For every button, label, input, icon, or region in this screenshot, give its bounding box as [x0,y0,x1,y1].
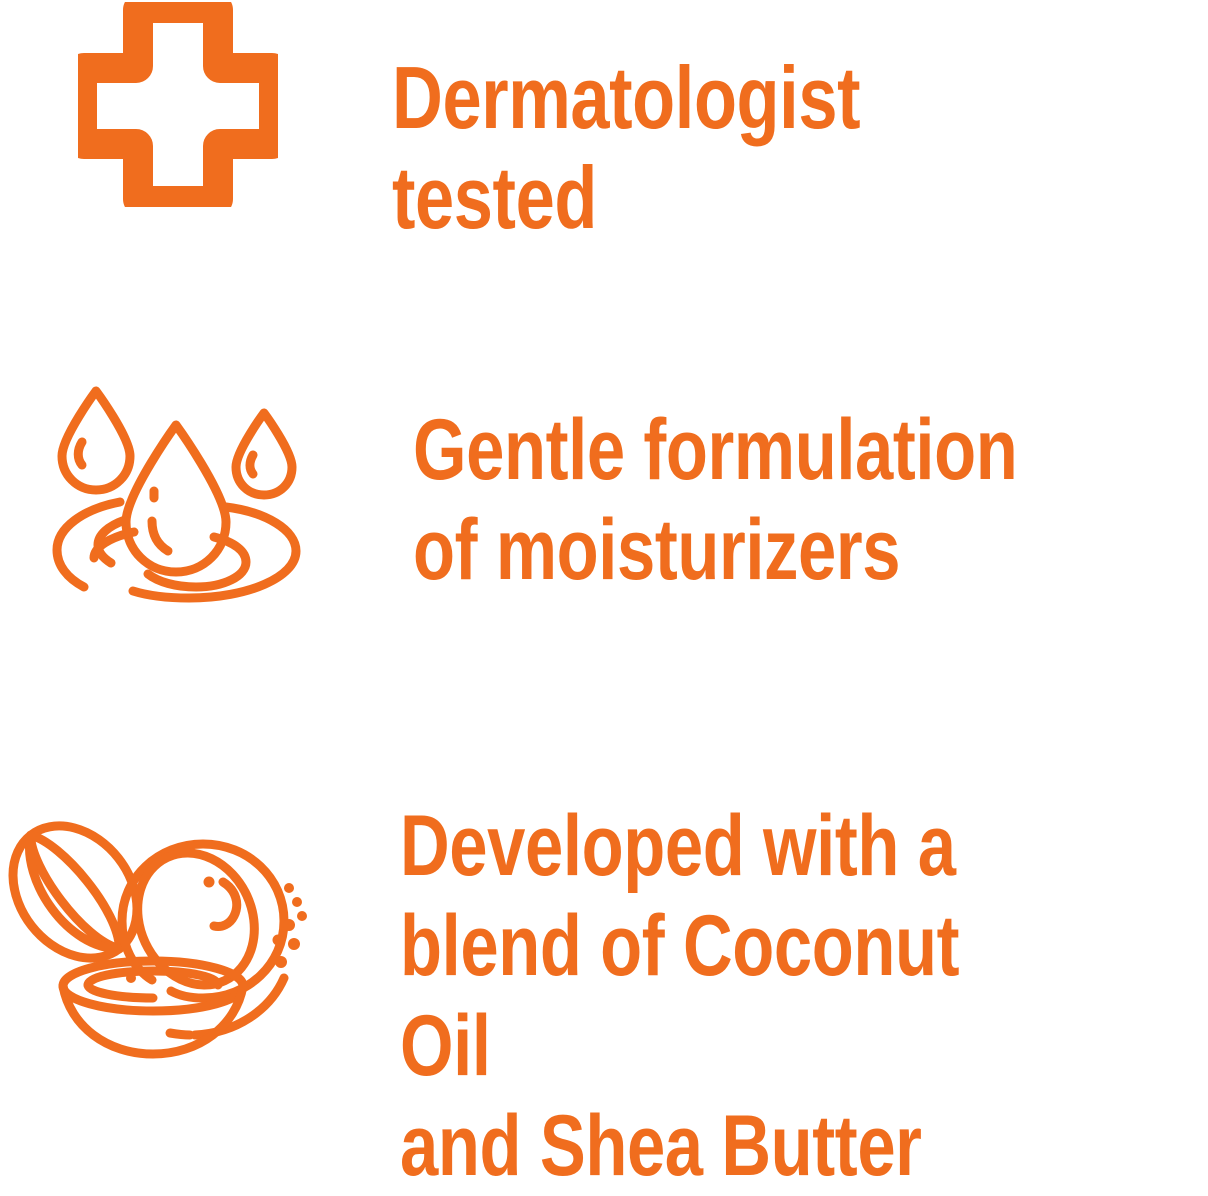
medical-cross-icon [78,2,278,207]
benefit-label: Dermatologist tested [392,48,1045,248]
benefit-label: Gentle formulation of moisturizers [413,400,1049,600]
product-benefits-panel: Dermatologist tested [0,0,1208,1080]
benefit-icon-slot [0,0,392,210]
water-droplets-icon [48,385,318,630]
benefit-icon-slot [0,380,413,630]
benefit-row-gentle-formulation: Gentle formulation of moisturizers [0,380,1208,640]
benefit-row-coconut-shea-blend: Developed with a blend of Coconut Oil an… [0,790,1208,1080]
benefit-row-dermatologist-tested: Dermatologist tested [0,0,1208,250]
coconut-icon [0,820,340,1070]
benefit-icon-slot [0,790,400,1080]
benefit-label: Developed with a blend of Coconut Oil an… [400,796,1047,1196]
